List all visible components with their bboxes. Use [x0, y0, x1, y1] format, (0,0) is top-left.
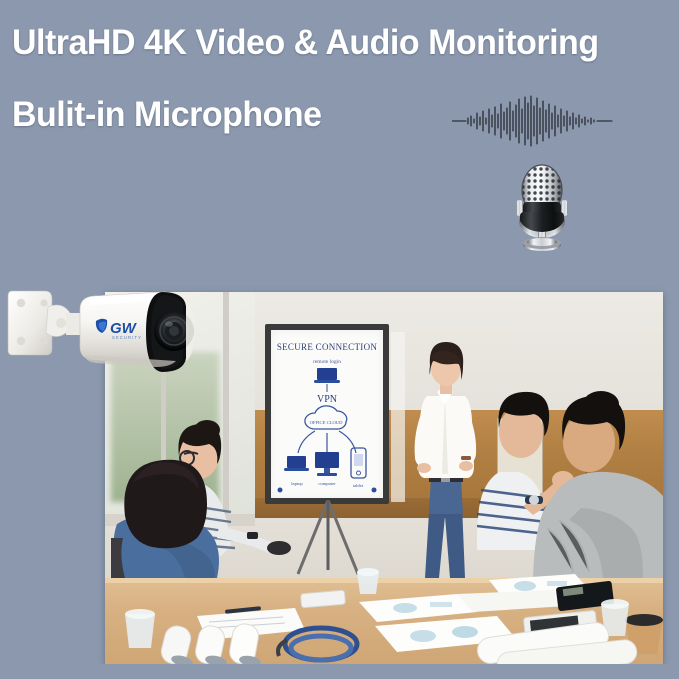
attendees-left: [111, 420, 291, 578]
table-objects: [105, 568, 663, 664]
coiled-cable: [285, 628, 357, 660]
plain-paper: [457, 590, 567, 612]
water-glass: [125, 609, 155, 648]
flipchart-device-label: laptop: [291, 481, 303, 486]
flipchart-title: SECURE CONNECTION: [277, 342, 378, 352]
headline-secondary: Bulit-in Microphone: [12, 95, 322, 135]
whiteboard-edge: [391, 332, 405, 502]
rolled-blueprint: [159, 623, 194, 664]
flipchart-sub-label: remote login: [313, 359, 341, 365]
flipchart-device-label: tablet: [353, 483, 364, 488]
attendees-right: [477, 388, 663, 578]
security-camera: GW SECURITY: [4, 283, 216, 401]
bottom-margin: [0, 664, 679, 679]
product-banner: UltraHD 4K Video & Audio Monitoring Buli…: [0, 0, 679, 679]
audio-waveform-icon: [452, 95, 618, 147]
water-glass: [357, 568, 379, 594]
chart-paper-sheet: [359, 594, 477, 622]
smartphone: [300, 590, 345, 608]
flipchart-stand: [290, 500, 366, 578]
flipchart-vpn-label: VPN: [317, 394, 337, 405]
brand-sub: SECURITY: [112, 335, 142, 340]
headline-primary: UltraHD 4K Video & Audio Monitoring: [12, 23, 599, 63]
flipchart-device-label: computer: [318, 481, 336, 486]
flipchart-cloud-label: OFFICE CLOUD: [310, 420, 343, 425]
retro-microphone-icon: [502, 160, 582, 256]
